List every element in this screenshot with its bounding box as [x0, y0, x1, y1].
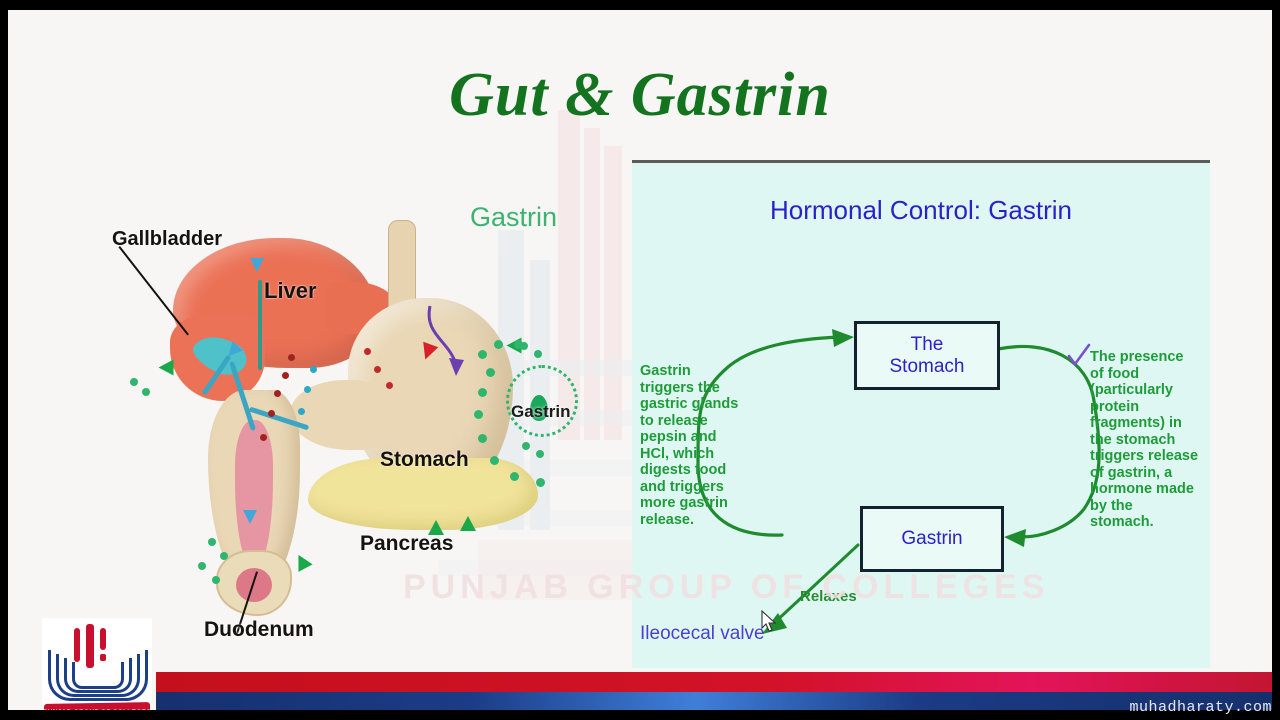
- gastrin-path-dot: [478, 388, 487, 397]
- duodenum-cutaway-lumen: [236, 568, 272, 602]
- bile-flow-arrow-1: [250, 258, 264, 272]
- stomach-node-line1: The: [911, 334, 944, 355]
- secretion-dot-green: [130, 378, 138, 386]
- ileocecal-valve-label[interactable]: Ileocecal valve: [640, 623, 765, 645]
- gastrin-path-dot: [478, 350, 487, 359]
- secretion-dot-green: [198, 562, 206, 570]
- secretion-dot: [260, 434, 267, 441]
- secretion-dot: [364, 348, 371, 355]
- gastrin-heading: Gastrin: [470, 202, 557, 233]
- bile-flow-arrow-3: [243, 510, 257, 524]
- gastrin-path-dot: [490, 456, 499, 465]
- secretion-dot-green: [212, 576, 220, 584]
- label-gallbladder: Gallbladder: [112, 228, 222, 251]
- gastrin-node-label: Gastrin: [901, 528, 962, 550]
- corner-watermark: muhadharaty.com: [1129, 699, 1272, 716]
- secretion-dot-green: [142, 388, 150, 396]
- logo-arc-4: [48, 650, 148, 701]
- gastrin-node-box[interactable]: Gastrin: [860, 506, 1004, 572]
- gastrin-trigger-text: The presence of food (particularly prote…: [1090, 349, 1200, 531]
- secretion-dot-green: [208, 538, 216, 546]
- gastrin-stimulation-arrow-1: [159, 360, 174, 376]
- secretion-dot-cyan: [298, 408, 305, 415]
- secretion-dot: [282, 372, 289, 379]
- label-pancreas: Pancreas: [360, 532, 453, 556]
- page-title: Gut & Gastrin: [8, 60, 1272, 131]
- gastrin-stimulation-arrow-5: [291, 551, 312, 572]
- screenshot-root: Gut & Gastrin: [0, 0, 1280, 720]
- secretion-dot: [274, 390, 281, 397]
- secretion-dot-green: [536, 450, 544, 458]
- secretion-dot: [374, 366, 381, 373]
- mouse-cursor: [761, 610, 777, 633]
- secretion-dot: [268, 410, 275, 417]
- label-stomach: Stomach: [380, 448, 469, 472]
- secretion-dot-green: [534, 350, 542, 358]
- secretion-dot-green: [220, 552, 228, 560]
- stomach-motility-arrow: [418, 300, 498, 390]
- logo-banner-text: PUNJAB GROUP OF COLLEGES: [42, 709, 152, 710]
- gastrin-path-dot: [514, 340, 523, 349]
- footer-blue-bar: [156, 692, 1272, 710]
- label-liver: Liver: [264, 278, 317, 304]
- gastrin-path-dot: [536, 478, 545, 487]
- gastrin-path-dot: [474, 410, 483, 419]
- stomach-node-label: The Stomach: [890, 334, 965, 378]
- secretion-dot-green: [522, 442, 530, 450]
- label-duodenum: Duodenum: [204, 618, 314, 642]
- gastrin-path-dot: [494, 340, 503, 349]
- checkmark-icon: [1066, 343, 1092, 369]
- secretion-dot: [386, 382, 393, 389]
- gastrin-path-dot: [486, 368, 495, 377]
- secretion-dot-cyan: [304, 386, 311, 393]
- gastrin-stimulation-arrow-4: [460, 516, 476, 531]
- gastrin-circle-label: Gastrin: [511, 402, 571, 422]
- center-watermark: PUNJAB GROUP OF COLLEGES: [403, 568, 823, 607]
- secretion-dot: [288, 354, 295, 361]
- stomach-node-box[interactable]: The Stomach: [854, 321, 1000, 390]
- punjab-group-logo: PUNJAB GROUP OF COLLEGES: [42, 618, 152, 710]
- secretion-dot-cyan: [310, 366, 317, 373]
- footer-red-bar: [156, 672, 1272, 692]
- gastrin-path-dot: [478, 434, 487, 443]
- logo-red-bar-icon: [100, 628, 106, 650]
- slide-canvas: Gut & Gastrin: [8, 10, 1272, 710]
- hepatic-duct: [258, 280, 262, 370]
- gastrin-effect-text: Gastrin triggers the gastric glands to r…: [640, 363, 748, 528]
- stomach-node-line2: Stomach: [890, 356, 965, 377]
- gastrin-path-dot: [510, 472, 519, 481]
